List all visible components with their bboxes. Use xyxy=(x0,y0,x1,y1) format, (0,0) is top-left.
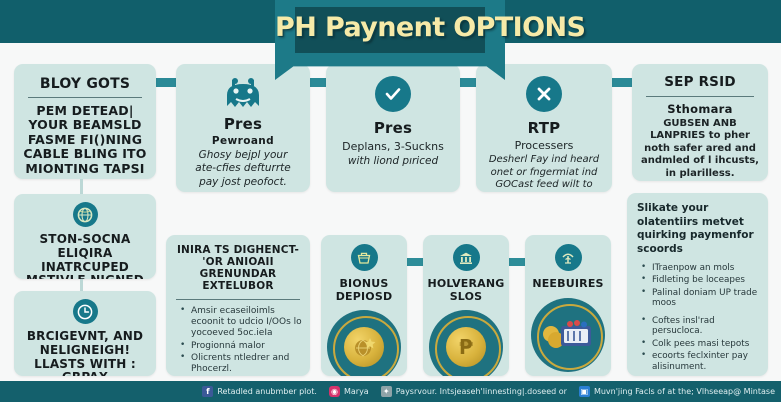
twitter-icon: ✦ xyxy=(381,386,392,397)
footer-link-twitter-label: Paysrvour. Intsjeaseh'linnesting|.doseed… xyxy=(396,387,567,396)
footer-link-instagram-label: Marya xyxy=(344,387,369,396)
step-5-heading: SEP RSID xyxy=(632,75,768,91)
list-item: Olicrents ntledrer and Phocerzl. xyxy=(180,353,302,375)
clock-icon xyxy=(73,299,98,324)
connector-left-1 xyxy=(80,179,83,194)
footer-link-chat[interactable]: ▣ Muvn'jing Facls of at the; Vlhseeap@ M… xyxy=(579,386,775,397)
list-item: Amsir ecaseiloimls ecoonit to udcio I/OO… xyxy=(180,306,302,338)
tile-slots-title: HOLVERANG SLOS xyxy=(423,278,509,303)
info-card-clock[interactable]: BRCIGEVNT, AND NELIGNEIGH! LLASTS WITH :… xyxy=(14,291,156,376)
step-3-body: with liond pıriced xyxy=(326,154,460,168)
list-item: Palinal doniam UP trade moos xyxy=(641,288,760,309)
detail-card-bullets: Amsir ecaseiloimls ecoonit to udcio I/OO… xyxy=(166,306,310,375)
robot-mascot-icon xyxy=(221,76,265,110)
tree-icon xyxy=(555,244,582,271)
step-2-body: Ghosy bejpl your ate-cfies defturrte pay… xyxy=(176,147,310,188)
flow-step-card-4[interactable]: RTP Processers Desherl Fay ind heard one… xyxy=(476,64,612,192)
checklist-heading: Slikate your olatentiirs metvet quirking… xyxy=(627,193,768,257)
detail-card[interactable]: INIRA TS DIGHENCT-'OR ANIOAII GRENUNDAR … xyxy=(166,235,310,376)
connector-left-2 xyxy=(80,279,83,291)
list-item: ITraenpow an mols xyxy=(641,263,760,274)
list-item: Coftes insl'rad persucloca. xyxy=(641,316,760,337)
step-1-body: PEM DETEAD| YOUR BEAMSLD FASME FI()NING … xyxy=(14,104,156,176)
coin xyxy=(344,327,384,367)
step-3-subheading: Deplans, 3-Suckns xyxy=(326,137,460,154)
step-4-subheading: Processers xyxy=(476,137,612,153)
step-4-heading: RTP xyxy=(476,120,612,137)
step-3-heading: Pres xyxy=(326,120,460,137)
bank-icon xyxy=(453,244,480,271)
tile-features-title: NEEBUIRES xyxy=(525,278,611,291)
peso-coin-medallion: ₱ xyxy=(429,310,503,376)
flow-step-card-5[interactable]: SEP RSID Sthomara GUBSEN ANB LANPRIES to… xyxy=(632,64,768,181)
flow-step-card-1[interactable]: BLOY GOTS PEM DETEAD| YOUR BEAMSLD FASME… xyxy=(14,64,156,179)
checklist-bullets-bottom: Coftes insl'rad persucloca. Colk pees ma… xyxy=(627,316,768,373)
tile-bonus[interactable]: BIONUS DEPIOSD xyxy=(321,235,407,376)
footer-link-chat-label: Muvn'jing Facls of at the; Vlhseeap@ Min… xyxy=(594,387,775,396)
info-card-global[interactable]: STON-SOCNA ELIQIRA INATRCUPED MSTIVLE NI… xyxy=(14,194,156,279)
checklist-card[interactable]: Slikate your olatentiirs metvet quirking… xyxy=(627,193,768,376)
globe-star-coin-medallion xyxy=(327,310,401,376)
flow-step-card-3[interactable]: Pres Deplans, 3-Suckns with liond pırice… xyxy=(326,64,460,192)
step-5-subheading: Sthomara xyxy=(632,103,768,116)
chat-icon: ▣ xyxy=(579,386,590,397)
basket-icon xyxy=(351,244,378,271)
tile-slots[interactable]: HOLVERANG SLOS ₱ xyxy=(423,235,509,376)
info-card-global-text: STON-SOCNA ELIQIRA INATRCUPED MSTIVLE NI… xyxy=(14,233,156,279)
footer-link-instagram[interactable]: ◉ Marya xyxy=(329,386,369,397)
list-item: ecoorts feclxinter pay alisinument. xyxy=(641,351,760,372)
step-1-heading: BLOY GOTS xyxy=(14,76,156,92)
step-2-subheading: Pewroand xyxy=(176,135,310,147)
footer-link-facebook-label: Retadled anubmber plot. xyxy=(217,387,317,396)
facebook-icon: f xyxy=(202,386,213,397)
detail-card-heading: INIRA TS DIGHENCT-'OR ANIOAII GRENUNDAR … xyxy=(166,244,310,292)
list-item: Fidleting be loceapes xyxy=(641,275,760,286)
cards-coins-medallion xyxy=(531,298,605,372)
info-card-clock-text: BRCIGEVNT, AND NELIGNEIGH! LLASTS WITH :… xyxy=(14,330,156,376)
check-circle-icon xyxy=(375,76,411,112)
tile-bonus-title: BIONUS DEPIOSD xyxy=(321,278,407,303)
step-2-heading: Pres xyxy=(176,116,310,133)
page-title: PH Paynent OPTIONS xyxy=(275,12,505,43)
footer-link-facebook[interactable]: f Retadled anubmber plot. xyxy=(202,386,317,397)
step-4-body: Desherl Fay ind heard onet or fngermiat … xyxy=(476,153,612,192)
step-5-body: GUBSEN ANB LANPRIES to pher noth safer a… xyxy=(632,116,768,181)
detail-card-divider xyxy=(176,299,300,300)
flow-step-card-2[interactable]: Pres Pewroand Ghosy bejpl your ate-cfies… xyxy=(176,64,310,192)
tile-features[interactable]: NEEBUIRES xyxy=(525,235,611,376)
list-item: Progionná malor xyxy=(180,341,302,352)
coin: ₱ xyxy=(446,327,486,367)
footer-link-twitter[interactable]: ✦ Paysrvour. Intsjeaseh'linnesting|.dose… xyxy=(381,386,567,397)
x-circle-icon xyxy=(526,76,562,112)
footer-bar: f Retadled anubmber plot. ◉ Marya ✦ Pays… xyxy=(0,381,781,402)
globe-icon xyxy=(73,202,98,227)
instagram-icon: ◉ xyxy=(329,386,340,397)
list-item: Colk pees masi tepots xyxy=(641,339,760,350)
step-5-divider xyxy=(646,96,754,97)
step-1-divider xyxy=(28,97,142,98)
checklist-bullets-top: ITraenpow an mols Fidleting be loceapes … xyxy=(627,263,768,309)
